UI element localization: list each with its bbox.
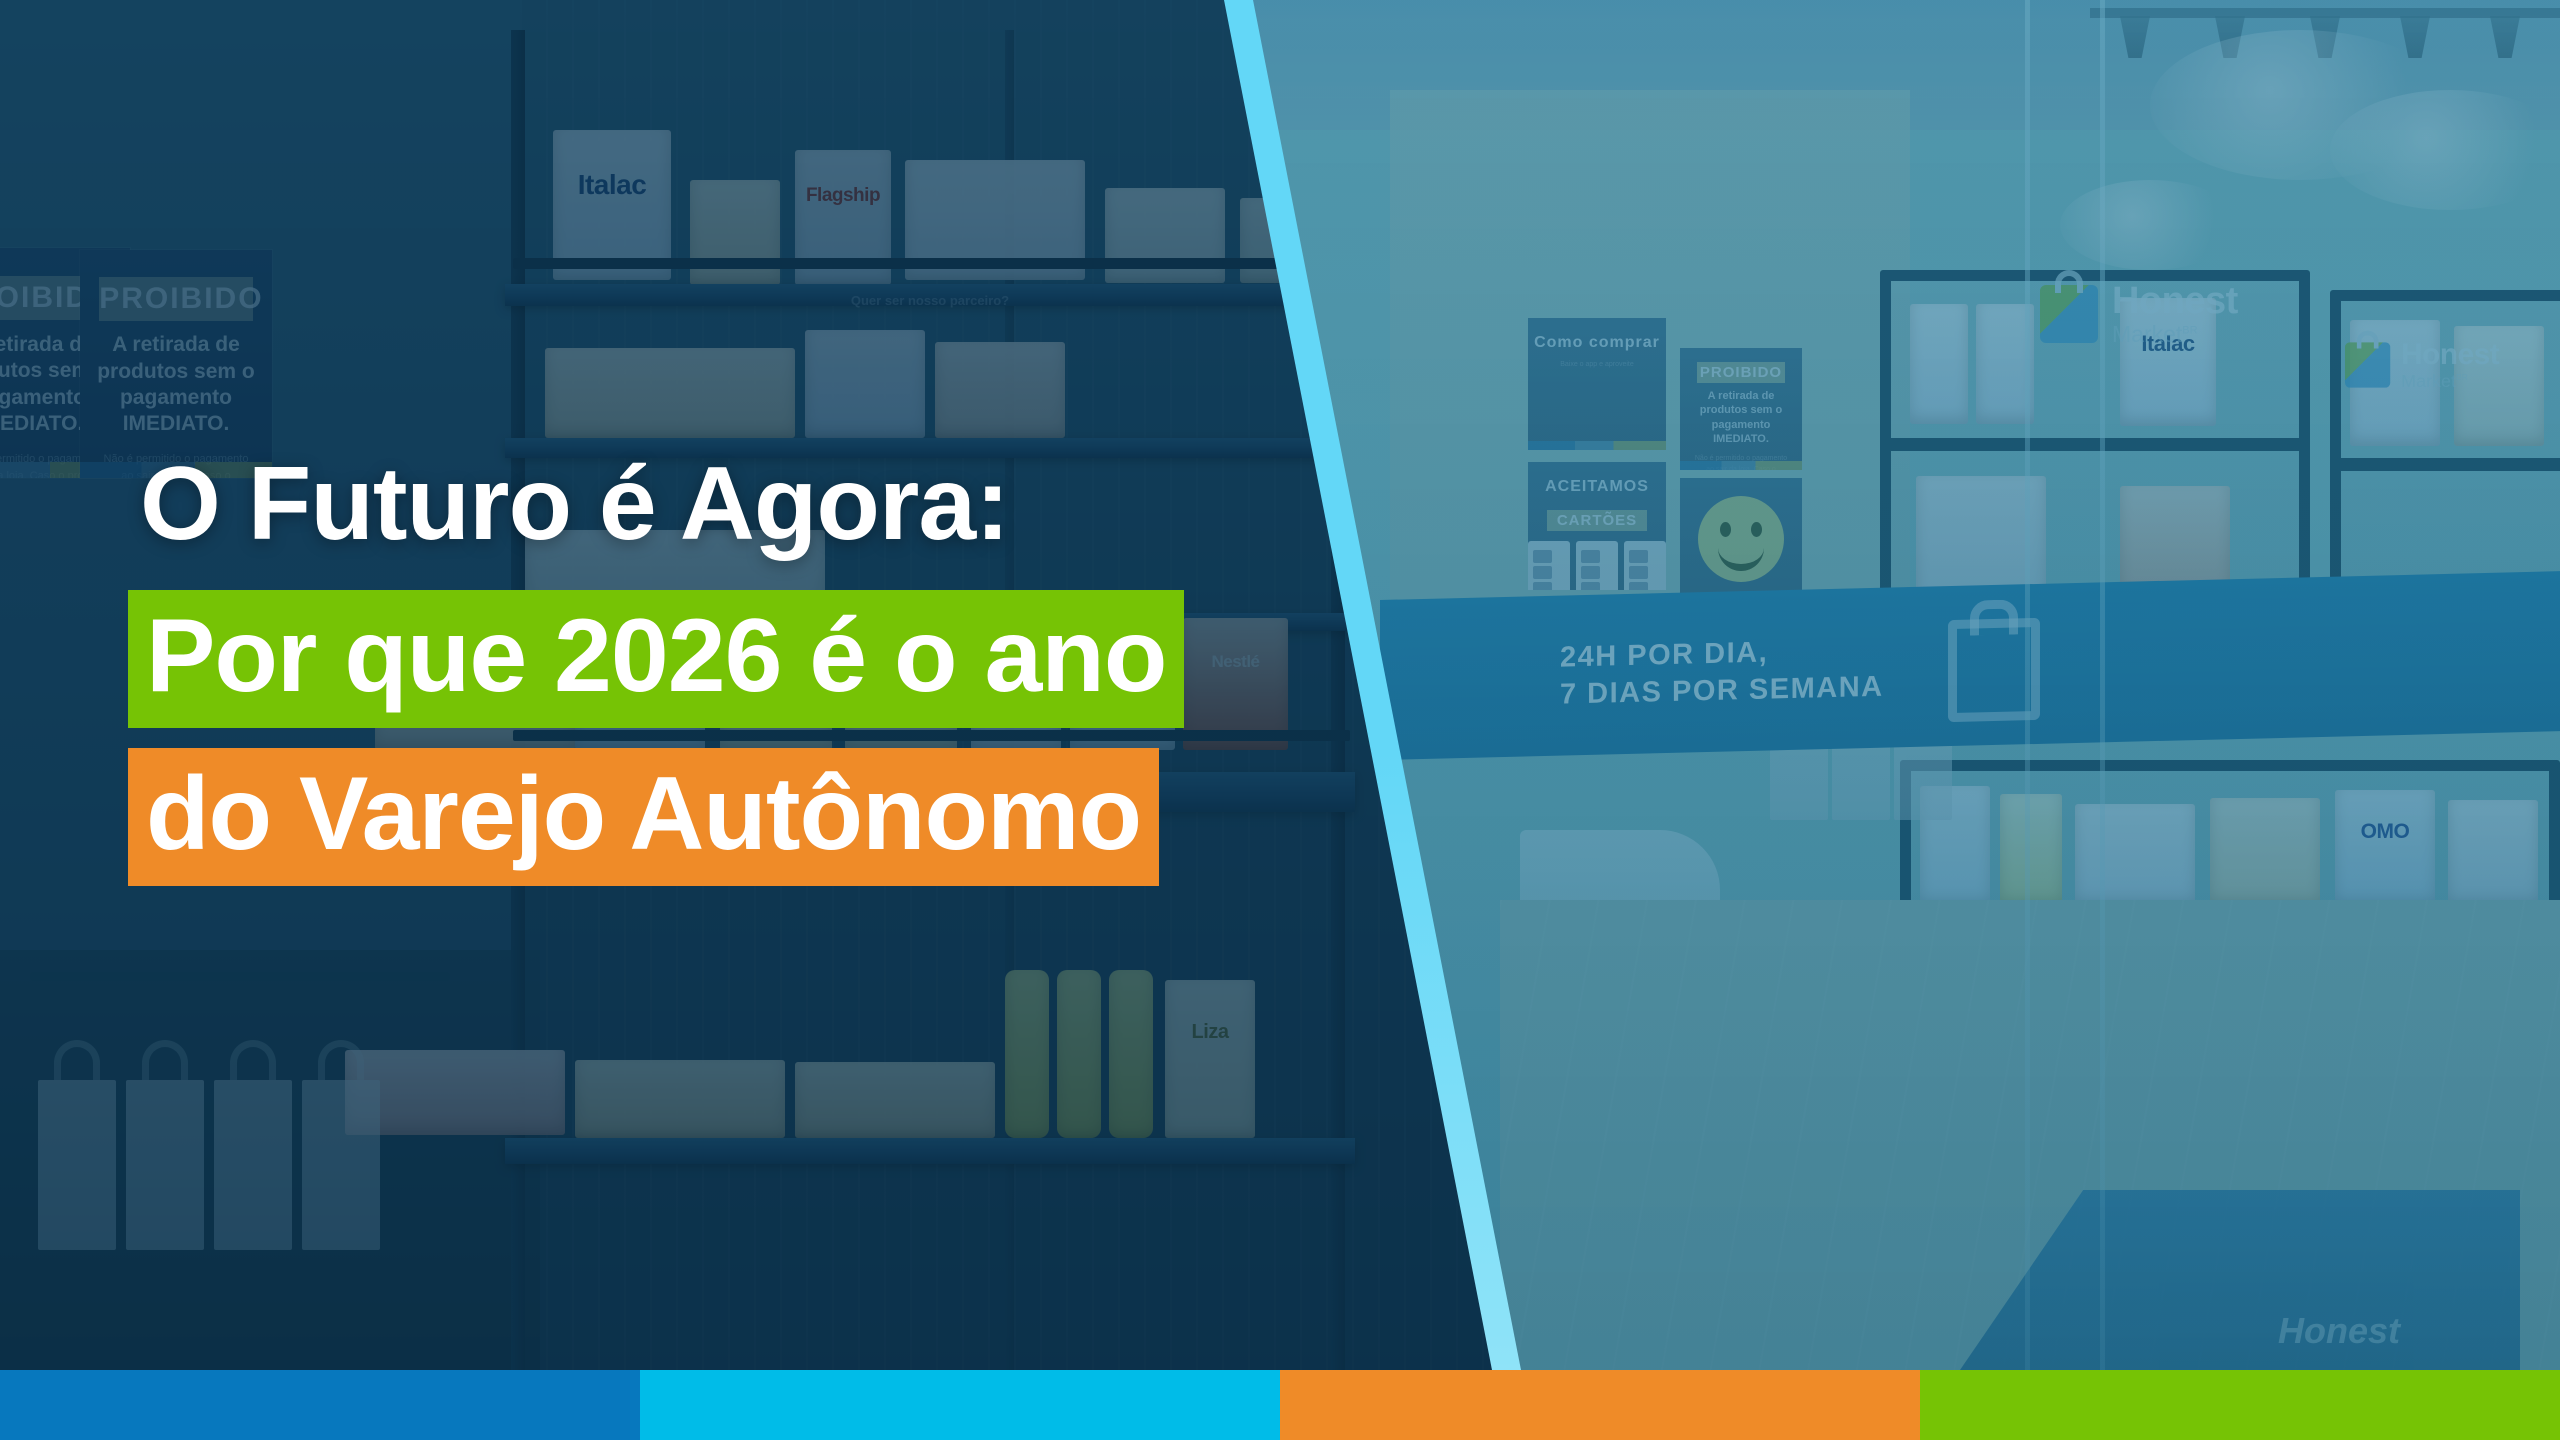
product-sack	[575, 1060, 785, 1138]
product-sack	[795, 1062, 995, 1138]
card-column	[1528, 541, 1570, 590]
poster-badge: PROIBIDO	[99, 277, 253, 321]
product-box	[935, 342, 1065, 438]
rack-rail	[513, 258, 1350, 269]
card-logo-icon	[1533, 550, 1552, 563]
brand-text: Honest MarketBR	[2401, 340, 2499, 390]
bottom-color-bar	[0, 1370, 2560, 1440]
brand-text: Honest MarketBR	[2112, 282, 2238, 346]
product-omo: OMO	[2335, 790, 2435, 906]
poster-subtitle: A retirada de produtos sem o pagamento I…	[1680, 389, 1802, 446]
tote-bag	[214, 1080, 292, 1250]
product-liza: Liza	[1165, 980, 1255, 1138]
product-oil-bottle	[1057, 970, 1101, 1138]
headline-line-1: O Futuro é Agora:	[140, 452, 1528, 556]
card-logo-icon	[1533, 566, 1552, 579]
bottom-bar-segment-green	[1920, 1370, 2560, 1440]
product-oil-bottle	[1005, 970, 1049, 1138]
poster-badge: CARTÕES	[1547, 510, 1646, 531]
rack-shelf	[505, 1138, 1355, 1164]
brand-name: Honest	[2401, 338, 2499, 371]
poster-sorria-filmado: SORRIA, VOCÊ ESTÁ SENDO FILMADO! Ambient…	[1680, 478, 1802, 608]
card-logo-icon	[1629, 550, 1648, 563]
headline-line-2-highlight-green: Por que 2026 é o ano	[128, 590, 1184, 728]
poster-heading: A retirada de produtos sem o pagamento I…	[80, 332, 272, 437]
brand-sub: MarketBR	[2401, 372, 2499, 390]
card-column	[1624, 541, 1666, 590]
brand-name: Honest	[2112, 280, 2238, 322]
banner-24h: 24H POR DIA, 7 DIAS POR SEMANA	[1380, 571, 2560, 760]
shelf-tagline: Quer ser nosso parceiro?	[505, 292, 1355, 310]
product-box	[2210, 798, 2320, 906]
card-column	[1576, 541, 1618, 590]
banner-line2: 7 DIAS POR SEMANA	[1560, 671, 1884, 711]
product-bottle	[2000, 794, 2062, 906]
tote-bag	[126, 1080, 204, 1250]
card-logo-icon	[1629, 582, 1648, 590]
card-logo-icon	[1581, 566, 1600, 579]
card-logo-icon	[1629, 566, 1648, 579]
product-box	[1910, 304, 1968, 424]
poster-title: ACEITAMOS	[1528, 478, 1666, 496]
product-box	[2448, 800, 2538, 906]
poster-badge: PROIBIDO	[1697, 362, 1785, 383]
product-box	[690, 180, 780, 285]
product-box	[805, 330, 925, 438]
shopping-bag-logo-icon	[2345, 342, 2390, 387]
glass-pane-mullion	[2025, 0, 2030, 1370]
bottom-bar-segment-orange	[1280, 1370, 1920, 1440]
cabinet-shelf	[1880, 438, 2310, 451]
brand-sub: MarketBR	[2112, 323, 2238, 346]
headline-line-3-highlight-orange: do Varejo Autônomo	[128, 748, 1159, 886]
poster-aceitamos-cartoes: ACEITAMOS CARTÕES	[1528, 462, 1666, 590]
poster-footer-stripe	[1528, 441, 1666, 450]
bottom-bar-segment-cyan	[640, 1370, 1280, 1440]
product-box	[2075, 804, 2195, 906]
poster-fine-print: Baixe o app e aproveite	[1528, 352, 1666, 371]
tote-bag	[302, 1080, 380, 1250]
mat-brand-text: Honest	[2278, 1310, 2400, 1352]
card-logo-icon	[1581, 550, 1600, 563]
brand-logo-honest-market-1: Honest MarketBR	[2040, 282, 2238, 346]
poster-footer-stripe	[1680, 461, 1802, 470]
tote-bag	[38, 1080, 116, 1250]
poster-proibido-left: PROIBIDO A retirada de produtos sem o pa…	[80, 250, 272, 478]
smiley-face-icon	[1698, 496, 1784, 582]
card-logo-icon	[1581, 582, 1600, 590]
tote-bag-display-left	[30, 1020, 450, 1250]
card-logo-icon	[1533, 582, 1552, 590]
banner-24h-text: 24H POR DIA, 7 DIAS POR SEMANA	[1560, 632, 1884, 714]
brand-logo-honest-market-2: Honest MarketBR	[2345, 340, 2499, 390]
poster-title: Como comprar	[1528, 334, 1666, 352]
glass-pane-mullion	[2100, 0, 2105, 1370]
product-box	[545, 348, 795, 438]
cabinet-shelf	[2330, 458, 2560, 471]
product-oil-bottle	[1109, 970, 1153, 1138]
headline-block: O Futuro é Agora: Por que 2026 é o ano d…	[128, 452, 1528, 906]
poster-proibido-right: PROIBIDO A retirada de produtos sem o pa…	[1680, 348, 1802, 470]
bottom-bar-segment-blue	[0, 1370, 640, 1440]
shopping-bag-logo-icon	[2040, 285, 2098, 343]
poster-como-comprar: Como comprar Baixe o app e aproveite	[1528, 318, 1666, 450]
tote-rail	[30, 972, 450, 981]
banner-line1: 24H POR DIA,	[1560, 637, 1768, 674]
promo-banner-image: PROIBIDO A retirada de produtos sem o pa…	[0, 0, 2560, 1440]
payment-card-logos	[1528, 541, 1666, 590]
